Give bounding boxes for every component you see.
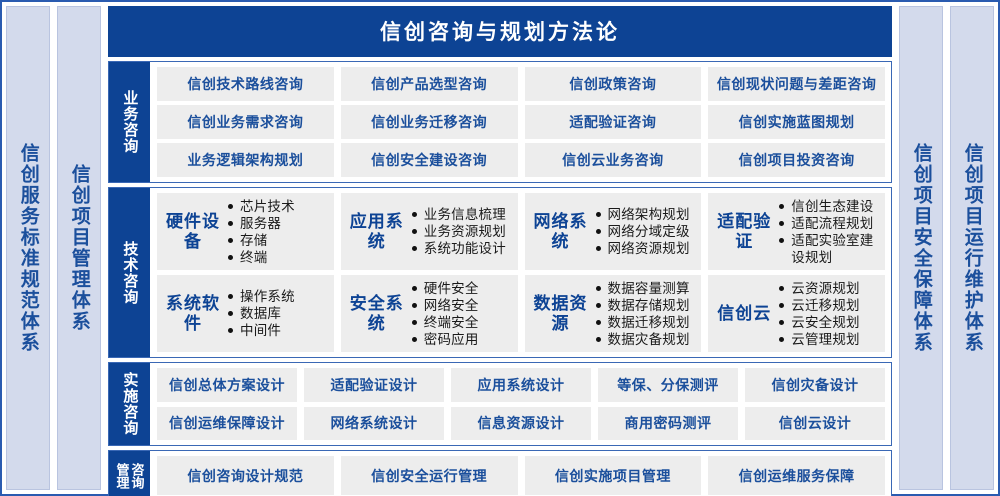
card-title: 信创云 bbox=[716, 304, 772, 323]
pillar-right-security-assurance: 信创项目安全保障体系 bbox=[899, 6, 943, 490]
chip-item[interactable]: 网络系统设计 bbox=[304, 407, 444, 441]
card-data-resource[interactable]: 数据资源 数据容量测算 数据存储规划 数据迁移规划 数据灾备规划 bbox=[525, 275, 702, 352]
card-title: 系统软件 bbox=[165, 294, 221, 332]
chip-row: 信创运维保障设计 网络系统设计 信息资源设计 商用密码测评 信创云设计 bbox=[157, 407, 885, 441]
row-label-implementation-consulting: 实施咨询 bbox=[109, 363, 150, 445]
card-list-item: 网络分域定级 bbox=[595, 223, 696, 240]
card-list-item: 终端安全 bbox=[411, 314, 512, 331]
chip-item[interactable]: 等保、分保测评 bbox=[598, 368, 738, 402]
card-list: 信创生态建设 适配流程规划 适配实验室建设规划 bbox=[778, 198, 879, 266]
card-system-software[interactable]: 系统软件 操作系统 数据库 中间件 bbox=[157, 275, 334, 352]
row-label-business-consulting: 业务咨询 bbox=[109, 62, 150, 182]
card-xinchuang-cloud[interactable]: 信创云 云资源规划 云迁移规划 云安全规划 云管理规划 bbox=[708, 275, 885, 352]
chip-item[interactable]: 信创总体方案设计 bbox=[157, 368, 297, 402]
chip-item[interactable]: 信创运维保障设计 bbox=[157, 407, 297, 441]
chip-row: 信创总体方案设计 适配验证设计 应用系统设计 等保、分保测评 信创灾备设计 bbox=[157, 368, 885, 402]
pillar-left-project-management: 信创项目管理体系 bbox=[57, 6, 101, 490]
row-label-consulting-management: 咨询 管理 bbox=[109, 451, 150, 496]
chip-item[interactable]: 信创咨询设计规范 bbox=[157, 456, 334, 495]
row-business-consulting: 业务咨询 信创技术路线咨询 信创产品选型咨询 信创政策咨询 信创现状问题与差距咨… bbox=[108, 61, 892, 183]
card-list-item: 数据存储规划 bbox=[595, 297, 696, 314]
card-list: 芯片技术 服务器 存储 终端 bbox=[227, 198, 328, 266]
card-application-system[interactable]: 应用系统 业务信息梳理 业务资源规划 系统功能设计 bbox=[341, 193, 518, 270]
chip-item[interactable]: 信创灾备设计 bbox=[745, 368, 885, 402]
row-technical-consulting: 技术咨询 硬件设备 芯片技术 服务器 存储 终端 bbox=[108, 187, 892, 358]
card-security-system[interactable]: 安全系统 硬件安全 网络安全 终端安全 密码应用 bbox=[341, 275, 518, 352]
card-list: 网络架构规划 网络分域定级 网络资源规划 bbox=[595, 206, 696, 257]
card-list-item: 操作系统 bbox=[227, 288, 328, 305]
card-title: 网络系统 bbox=[533, 212, 589, 250]
chip-item[interactable]: 应用系统设计 bbox=[451, 368, 591, 402]
card-title: 应用系统 bbox=[349, 212, 405, 250]
card-row: 硬件设备 芯片技术 服务器 存储 终端 应用系统 业务信息梳理 bbox=[157, 193, 885, 270]
chip-row: 信创技术路线咨询 信创产品选型咨询 信创政策咨询 信创现状问题与差距咨询 bbox=[157, 67, 885, 101]
card-network-system[interactable]: 网络系统 网络架构规划 网络分域定级 网络资源规划 bbox=[525, 193, 702, 270]
rows-container: 业务咨询 信创技术路线咨询 信创产品选型咨询 信创政策咨询 信创现状问题与差距咨… bbox=[108, 57, 892, 496]
card-list-item: 适配实验室建设规划 bbox=[778, 232, 879, 266]
pillar-right-operation-maintenance-label: 信创项目运行维护体系 bbox=[962, 143, 981, 353]
card-title: 适配验证 bbox=[716, 212, 772, 250]
card-list-item: 云迁移规划 bbox=[778, 297, 879, 314]
chip-item[interactable]: 信创政策咨询 bbox=[525, 67, 702, 101]
card-list-item: 云安全规划 bbox=[778, 314, 879, 331]
card-list-item: 网络架构规划 bbox=[595, 206, 696, 223]
card-list-item: 业务资源规划 bbox=[411, 223, 512, 240]
chip-item[interactable]: 适配验证设计 bbox=[304, 368, 444, 402]
card-list-item: 数据库 bbox=[227, 305, 328, 322]
row-implementation-consulting: 实施咨询 信创总体方案设计 适配验证设计 应用系统设计 等保、分保测评 信创灾备… bbox=[108, 362, 892, 446]
chip-item[interactable]: 信创安全运行管理 bbox=[341, 456, 518, 495]
card-list-item: 系统功能设计 bbox=[411, 240, 512, 257]
card-list-item: 数据灾备规划 bbox=[595, 331, 696, 348]
chip-item[interactable]: 信息资源设计 bbox=[451, 407, 591, 441]
pillar-right-security-assurance-label: 信创项目安全保障体系 bbox=[911, 143, 930, 353]
chip-item[interactable]: 商用密码测评 bbox=[598, 407, 738, 441]
card-list-item: 硬件安全 bbox=[411, 280, 512, 297]
card-list: 数据容量测算 数据存储规划 数据迁移规划 数据灾备规划 bbox=[595, 280, 696, 348]
center-column: 信创咨询与规划方法论 业务咨询 信创技术路线咨询 信创产品选型咨询 信创政策咨询… bbox=[108, 6, 892, 490]
row-label-business-consulting-text: 业务咨询 bbox=[122, 90, 138, 154]
chip-item[interactable]: 信创业务迁移咨询 bbox=[341, 105, 518, 139]
page-title: 信创咨询与规划方法论 bbox=[108, 6, 892, 57]
card-list-item: 适配流程规划 bbox=[778, 215, 879, 232]
card-list: 业务信息梳理 业务资源规划 系统功能设计 bbox=[411, 206, 512, 257]
card-adaptation-verification[interactable]: 适配验证 信创生态建设 适配流程规划 适配实验室建设规划 bbox=[708, 193, 885, 270]
card-list-item: 存储 bbox=[227, 232, 328, 249]
card-list-item: 服务器 bbox=[227, 215, 328, 232]
card-list: 硬件安全 网络安全 终端安全 密码应用 bbox=[411, 280, 512, 348]
card-title: 安全系统 bbox=[349, 294, 405, 332]
card-list-item: 网络资源规划 bbox=[595, 240, 696, 257]
card-list-item: 云资源规划 bbox=[778, 280, 879, 297]
pillar-left-service-standard: 信创服务标准规范体系 bbox=[6, 6, 50, 490]
row-label-technical-consulting: 技术咨询 bbox=[109, 188, 150, 357]
chip-item[interactable]: 信创运维服务保障 bbox=[708, 456, 885, 495]
row-body-technical-consulting: 硬件设备 芯片技术 服务器 存储 终端 应用系统 业务信息梳理 bbox=[150, 188, 891, 357]
card-list-item: 密码应用 bbox=[411, 331, 512, 348]
row-label-consulting-management-col2: 管理 bbox=[116, 463, 129, 489]
card-list-item: 终端 bbox=[227, 249, 328, 266]
row-label-consulting-management-col1: 咨询 bbox=[131, 463, 144, 489]
row-body-implementation-consulting: 信创总体方案设计 适配验证设计 应用系统设计 等保、分保测评 信创灾备设计 信创… bbox=[150, 363, 891, 445]
chip-item[interactable]: 信创实施蓝图规划 bbox=[708, 105, 885, 139]
chip-row: 信创业务需求咨询 信创业务迁移咨询 适配验证咨询 信创实施蓝图规划 bbox=[157, 105, 885, 139]
chip-item[interactable]: 业务逻辑架构规划 bbox=[157, 143, 334, 177]
chip-item[interactable]: 信创业务需求咨询 bbox=[157, 105, 334, 139]
diagram-frame: 信创服务标准规范体系 信创项目管理体系 信创咨询与规划方法论 业务咨询 信创技术… bbox=[0, 0, 1000, 496]
card-title: 数据资源 bbox=[533, 294, 589, 332]
card-list-item: 网络安全 bbox=[411, 297, 512, 314]
row-body-consulting-management: 信创咨询设计规范 信创安全运行管理 信创实施项目管理 信创运维服务保障 bbox=[150, 451, 891, 496]
row-label-technical-consulting-text: 技术咨询 bbox=[122, 241, 138, 305]
row-label-implementation-consulting-text: 实施咨询 bbox=[122, 372, 138, 436]
card-list-item: 云管理规划 bbox=[778, 331, 879, 348]
pillar-left-project-management-label: 信创项目管理体系 bbox=[69, 164, 88, 332]
chip-item[interactable]: 信创技术路线咨询 bbox=[157, 67, 334, 101]
chip-item[interactable]: 信创项目投资咨询 bbox=[708, 143, 885, 177]
chip-row: 业务逻辑架构规划 信创安全建设咨询 信创云业务咨询 信创项目投资咨询 bbox=[157, 143, 885, 177]
row-consulting-management: 咨询 管理 信创咨询设计规范 信创安全运行管理 信创实施项目管理 信创运维服务保… bbox=[108, 450, 892, 496]
chip-item[interactable]: 信创产品选型咨询 bbox=[341, 67, 518, 101]
card-list-item: 芯片技术 bbox=[227, 198, 328, 215]
chip-item[interactable]: 信创现状问题与差距咨询 bbox=[708, 67, 885, 101]
row-label-consulting-management-stack: 咨询 管理 bbox=[116, 463, 144, 489]
row-body-business-consulting: 信创技术路线咨询 信创产品选型咨询 信创政策咨询 信创现状问题与差距咨询 信创业… bbox=[150, 62, 891, 182]
chip-item[interactable]: 信创实施项目管理 bbox=[525, 456, 702, 495]
card-title: 硬件设备 bbox=[165, 212, 221, 250]
card-list-item: 中间件 bbox=[227, 322, 328, 339]
chip-item[interactable]: 信创云业务咨询 bbox=[525, 143, 702, 177]
card-list: 操作系统 数据库 中间件 bbox=[227, 288, 328, 339]
card-hardware-equipment[interactable]: 硬件设备 芯片技术 服务器 存储 终端 bbox=[157, 193, 334, 270]
chip-row: 信创咨询设计规范 信创安全运行管理 信创实施项目管理 信创运维服务保障 bbox=[157, 456, 885, 495]
chip-item[interactable]: 信创安全建设咨询 bbox=[341, 143, 518, 177]
chip-item[interactable]: 适配验证咨询 bbox=[525, 105, 702, 139]
card-list-item: 数据迁移规划 bbox=[595, 314, 696, 331]
card-list-item: 业务信息梳理 bbox=[411, 206, 512, 223]
pillar-left-service-standard-label: 信创服务标准规范体系 bbox=[18, 143, 37, 353]
pillar-right-operation-maintenance: 信创项目运行维护体系 bbox=[950, 6, 994, 490]
chip-item[interactable]: 信创云设计 bbox=[745, 407, 885, 441]
card-list: 云资源规划 云迁移规划 云安全规划 云管理规划 bbox=[778, 280, 879, 348]
card-list-item: 信创生态建设 bbox=[778, 198, 879, 215]
card-list-item: 数据容量测算 bbox=[595, 280, 696, 297]
card-row: 系统软件 操作系统 数据库 中间件 安全系统 硬件安全 网络安全 bbox=[157, 275, 885, 352]
